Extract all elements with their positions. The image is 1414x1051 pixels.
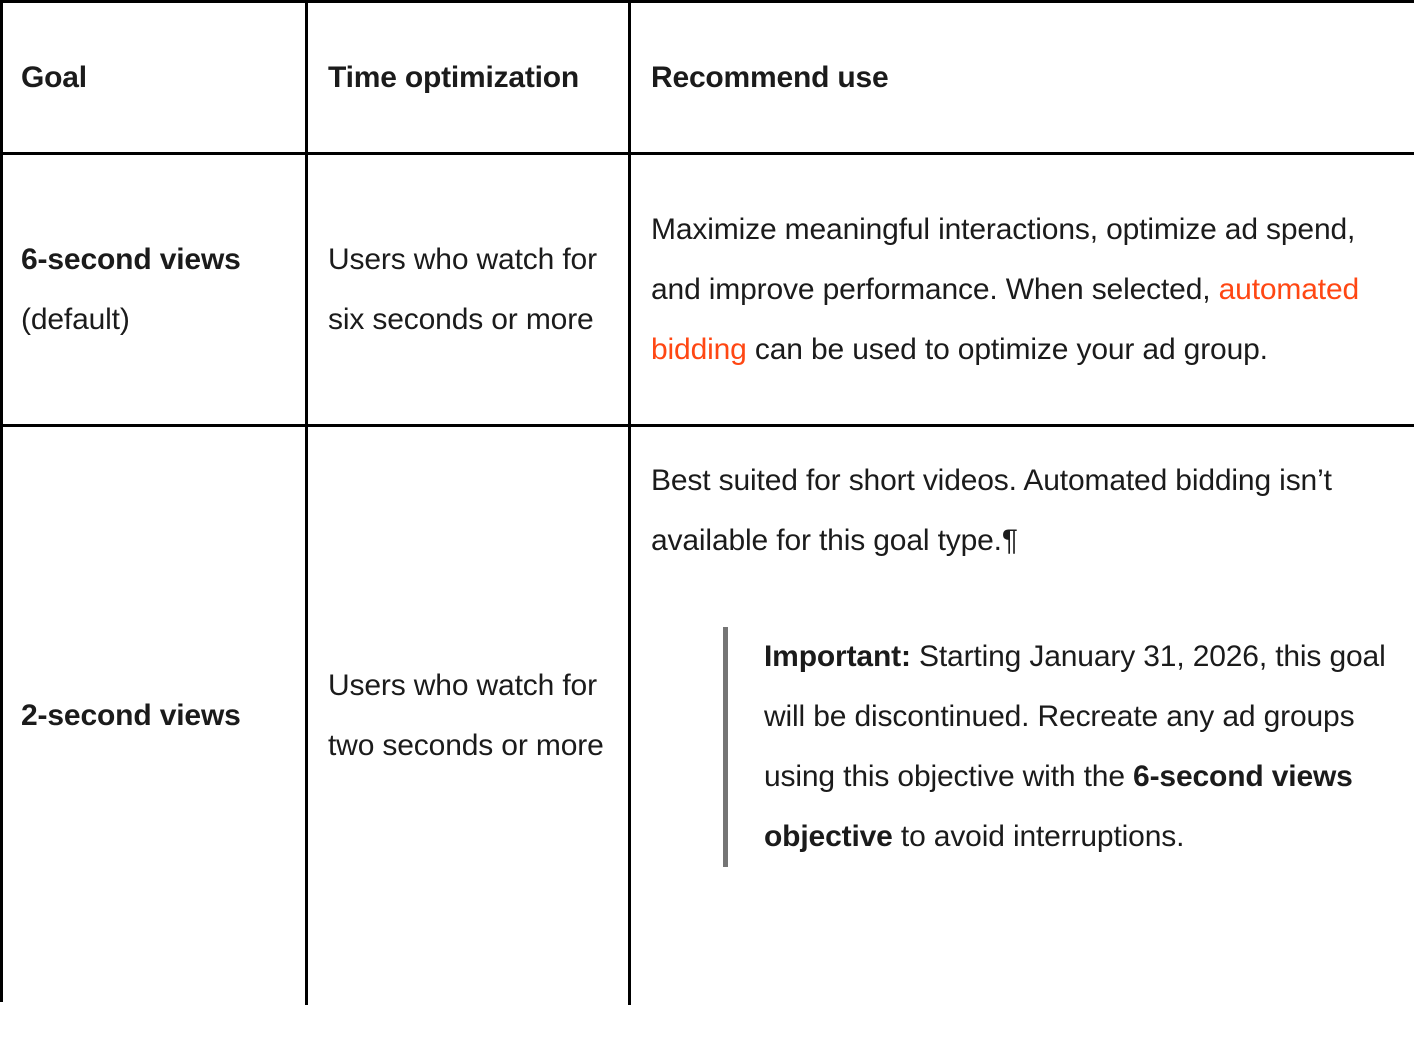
column-header-recommend-use: Recommend use [651,48,1396,108]
recommend-use-intro: Best suited for short videos. Automated … [651,464,1332,557]
recommend-use-intro-text: Best suited for short videos. Automated … [651,451,1396,571]
goal-label: 6-second views (default) [21,230,287,350]
cell-goal-6-second-views: 6-second views (default) [3,155,308,424]
pilcrow-mark: ¶ [1002,524,1018,557]
cell-recommend-use-2-second: Best suited for short videos. Automated … [631,427,1414,1005]
recommend-use-part2: can be used to optimize your ad group. [747,333,1268,366]
important-label: Important: [764,640,911,673]
recommend-use-text: Maximize meaningful interactions, optimi… [651,200,1396,380]
time-optimization-text: Users who watch for two seconds or more [328,656,608,776]
cell-recommend-use-6-second: Maximize meaningful interactions, optimi… [631,155,1414,424]
cell-goal-2-second-views: 2-second views [3,427,308,1005]
header-cell-time-optimization: Time optimization [308,3,631,152]
cell-time-optimization-2-second: Users who watch for two seconds or more [308,427,631,1005]
column-header-time-optimization: Time optimization [328,48,608,108]
cell-time-optimization-6-second: Users who watch for six seconds or more [308,155,631,424]
goal-name-suffix: (default) [21,303,130,336]
table-row: 2-second views Users who watch for two s… [3,427,1414,1005]
important-callout: Important: Starting January 31, 2026, th… [723,627,1396,867]
time-optimization-text: Users who watch for six seconds or more [328,230,608,350]
comparison-table: Goal Time optimization Recommend use 6-s… [0,0,1414,1002]
goal-label: 2-second views [21,686,287,746]
goal-name-bold: 2-second views [21,699,241,732]
column-header-goal: Goal [21,48,287,108]
header-cell-recommend-use: Recommend use [631,3,1414,152]
important-text-part2: to avoid interruptions. [893,820,1185,853]
table-row: 6-second views (default) Users who watch… [3,155,1414,427]
goal-name-bold: 6-second views [21,243,241,276]
table-header-row: Goal Time optimization Recommend use [3,3,1414,155]
important-callout-text: Important: Starting January 31, 2026, th… [764,627,1396,867]
header-cell-goal: Goal [3,3,308,152]
